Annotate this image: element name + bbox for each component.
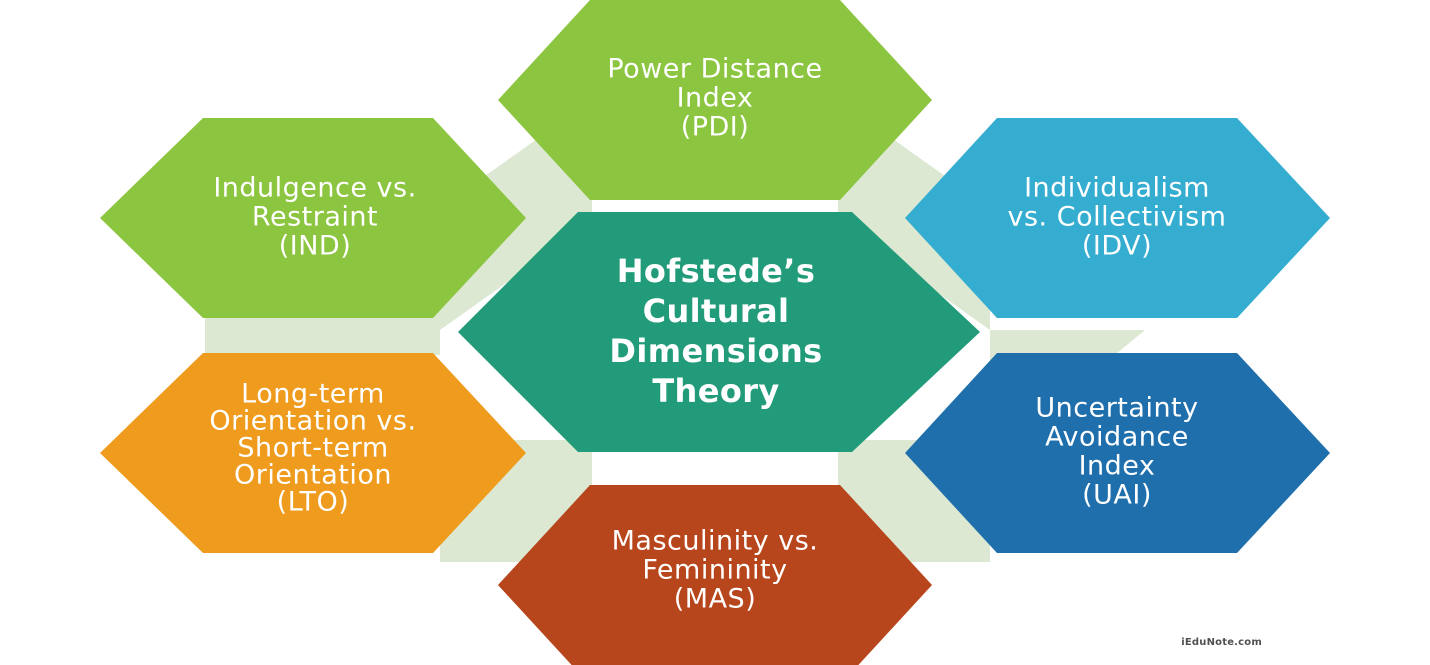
hex-label-pdi-line-2: (PDI) xyxy=(681,112,750,143)
hex-label-idv-line-2: (IDV) xyxy=(1082,231,1152,262)
hex-label-center-line-3: Theory xyxy=(652,372,779,410)
hex-label-uai-line-3: (UAI) xyxy=(1082,480,1152,511)
hex-label-idv-line-0: Individualism xyxy=(1024,173,1210,204)
diagram-canvas: Power Distance Index (PDI) Individualism… xyxy=(0,0,1430,665)
hex-label-pdi-line-1: Index xyxy=(677,83,754,114)
hex-node-pdi[interactable]: Power Distance Index (PDI) xyxy=(498,0,932,200)
hex-label-lto-line-4: (LTO) xyxy=(277,487,350,518)
hofstede-hexagon-diagram: Power Distance Index (PDI) Individualism… xyxy=(0,0,1430,665)
watermark-iedunote: iEduNote.com xyxy=(1181,637,1262,648)
hex-label-mas-line-0: Masculinity vs. xyxy=(612,526,819,557)
hex-label-mas-line-2: (MAS) xyxy=(674,584,756,615)
hex-label-center-line-1: Cultural xyxy=(643,292,790,330)
hex-label-mas-line-1: Femininity xyxy=(642,555,787,586)
hex-label-ind-line-0: Indulgence vs. xyxy=(213,173,416,204)
hex-label-uai-line-0: Uncertainty xyxy=(1035,393,1198,424)
hex-label-uai-line-2: Index xyxy=(1079,451,1156,482)
hex-label-center-line-2: Dimensions xyxy=(609,332,822,370)
hex-label-idv-line-1: vs. Collectivism xyxy=(1008,202,1227,233)
hex-label-uai-line-1: Avoidance xyxy=(1045,422,1189,453)
hex-label-pdi-line-0: Power Distance xyxy=(607,54,822,85)
hex-label-center-line-0: Hofstede’s xyxy=(617,252,816,290)
hex-label-ind-line-1: Restraint xyxy=(252,202,378,233)
hex-label-ind-line-2: (IND) xyxy=(279,231,352,262)
